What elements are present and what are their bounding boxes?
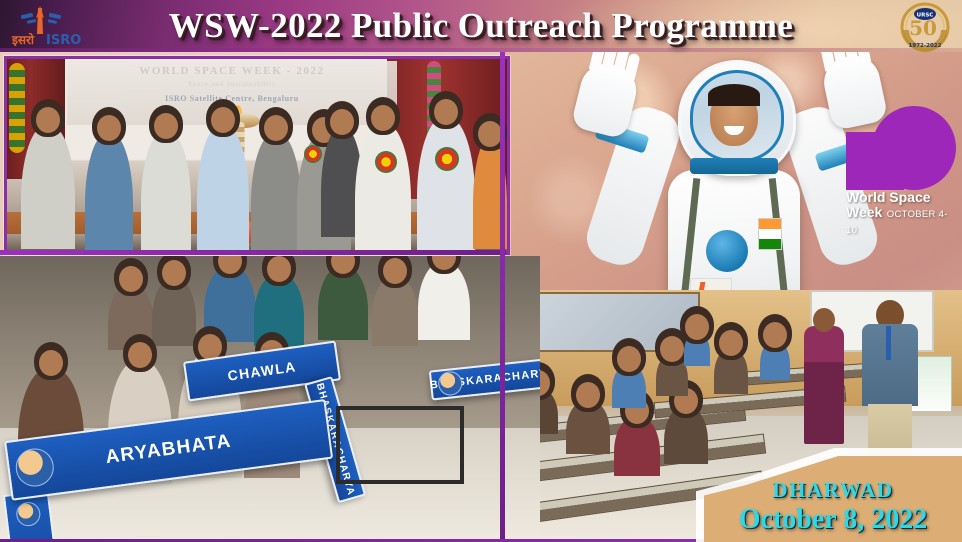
world-space-week-mark-icon <box>844 106 956 190</box>
audience-member <box>372 276 418 346</box>
audience-member <box>152 278 196 346</box>
svg-text:ISRO: ISRO <box>46 33 81 48</box>
decorative-garland-left <box>9 63 25 153</box>
page-title: WSW-2022 Public Outreach Programme <box>0 0 962 52</box>
dignitary <box>355 123 411 251</box>
wsw-2022-outreach-poster: WORLD SPACE WEEK - 2022 Space and Sustai… <box>0 0 962 542</box>
world-space-week-logo: World Space Week OCTOBER 4-10 <box>844 106 956 222</box>
rosette-badge-icon <box>304 145 322 163</box>
aryabhata-portrait-icon <box>13 446 56 489</box>
quiz-desk-frame <box>336 406 464 484</box>
rosette-badge-icon <box>375 151 397 173</box>
dignitary <box>417 117 475 251</box>
astronaut-face <box>710 88 758 146</box>
dignitary <box>251 133 301 251</box>
classroom-student <box>760 340 790 380</box>
rosette-badge-icon <box>435 147 459 171</box>
classroom-student <box>614 416 660 476</box>
official <box>418 262 470 340</box>
dignitary <box>197 125 249 251</box>
classroom-student <box>684 332 710 366</box>
divider-vertical <box>500 52 505 542</box>
classroom-student <box>566 400 610 454</box>
isro-logo: इसरो ISRO <box>8 4 82 48</box>
classroom-teacher <box>804 326 844 444</box>
placard-aryabhata-label: ARYABHATA <box>104 431 233 469</box>
divider-horizontal <box>0 250 506 255</box>
lamp-lighting-ceremony-photo: WORLD SPACE WEEK - 2022 Space and Sustai… <box>4 56 510 255</box>
astronaut-neck-ring <box>690 158 778 174</box>
indian-flag-patch-icon <box>758 218 782 250</box>
wsw-line2: Week <box>846 204 882 220</box>
svg-text:इसरो: इसरो <box>11 33 35 47</box>
classroom-student <box>714 348 748 394</box>
audience-member <box>318 266 368 340</box>
scientist-portrait-icon <box>437 370 463 396</box>
classroom-student <box>612 364 646 408</box>
classroom-student <box>664 406 708 464</box>
ursc-50-years-logo: URSC 50 1972-2022 <box>896 2 954 52</box>
world-space-week-wordmark: World Space Week OCTOBER 4-10 <box>846 190 956 238</box>
svg-text:1972-2022: 1972-2022 <box>909 43 942 49</box>
event-banner-line1: WORLD SPACE WEEK - 2022 <box>67 65 397 77</box>
svg-text:50: 50 <box>909 16 937 40</box>
event-banner-line2: Space and Sustainability <box>67 80 397 88</box>
wsw-line1: World Space <box>846 190 956 205</box>
dignitary <box>141 131 191 251</box>
location-date: October 8, 2022 <box>739 504 927 536</box>
dignitary <box>21 125 75 249</box>
astronaut-chest-valve <box>706 230 748 272</box>
location-badge-text: DHARWAD October 8, 2022 <box>704 456 962 542</box>
dignitary <box>85 133 133 251</box>
location-city: DHARWAD <box>772 478 893 503</box>
quiz-competition-photo: CHAWLA BHASKARACHARYA BHASKARACHARYA ARY… <box>0 256 540 542</box>
placard-chawla-label: CHAWLA <box>227 358 298 383</box>
